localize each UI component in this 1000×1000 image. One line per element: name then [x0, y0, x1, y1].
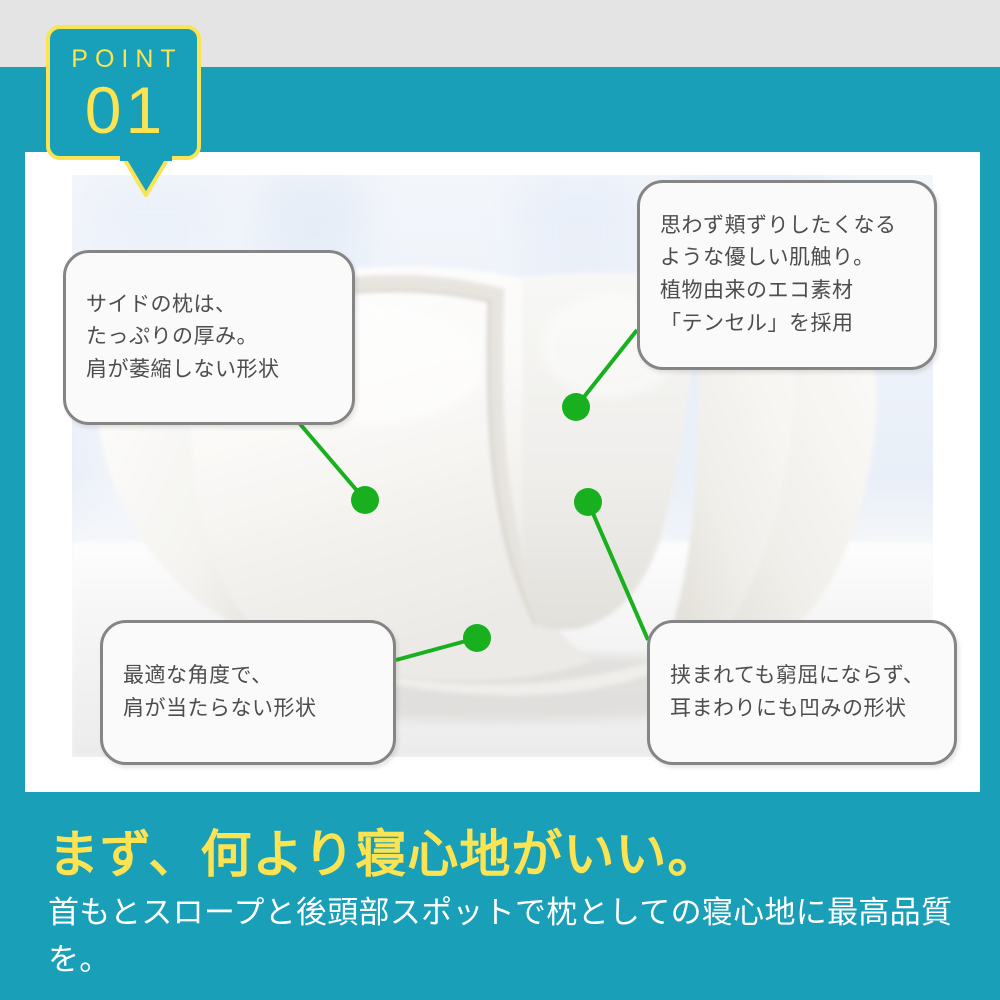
marker-side-pillow	[351, 486, 379, 514]
callout-line: 最適な角度で、	[123, 660, 373, 693]
callout-optimal-angle: 最適な角度で、 肩が当たらない形状	[100, 620, 396, 765]
point-badge-tail	[120, 155, 172, 197]
callout-line: 挟まれても窮屈にならず、	[670, 660, 934, 693]
callout-line: 耳まわりにも凹みの形状	[670, 693, 934, 726]
point-number: 01	[50, 76, 197, 145]
point-label: POINT	[50, 47, 197, 72]
callout-line: サイドの枕は、	[86, 289, 332, 322]
callout-soft-touch: 思わず頬ずりしたくなる ような優しい肌触り。 植物由来のエコ素材 「テンセル」を…	[637, 180, 937, 370]
callout-ear-dent: 挟まれても窮屈にならず、 耳まわりにも凹みの形状	[647, 620, 957, 765]
point-01-feature-panel: サイドの枕は、 たっぷりの厚み。 肩が萎縮しない形状 思わず頬ずりしたくなる よ…	[0, 0, 1000, 1000]
callout-line: 肩が萎縮しない形状	[86, 354, 332, 387]
marker-soft-touch	[562, 393, 590, 421]
callout-line: ような優しい肌触り。	[660, 242, 914, 275]
footer-headline: まず、何より寝心地がいい。	[48, 813, 719, 887]
callout-line: たっぷりの厚み。	[86, 321, 332, 354]
callout-line: 思わず頬ずりしたくなる	[660, 210, 914, 243]
footer-subtext: 首もとスロープと後頭部スポットで枕としての寝心地に最高品質を。	[48, 889, 953, 983]
marker-ear-dent	[574, 488, 602, 516]
callout-line: 肩が当たらない形状	[123, 693, 373, 726]
footer-headline-block: まず、何より寝心地がいい。 首もとスロープと後頭部スポットで枕としての寝心地に最…	[0, 805, 1000, 1000]
callout-line: 植物由来のエコ素材	[660, 275, 914, 308]
marker-optimal-angle	[463, 624, 491, 652]
callout-side-pillow: サイドの枕は、 たっぷりの厚み。 肩が萎縮しない形状	[63, 250, 355, 425]
point-badge: POINT 01	[46, 25, 201, 160]
callout-line: 「テンセル」を採用	[660, 308, 914, 341]
